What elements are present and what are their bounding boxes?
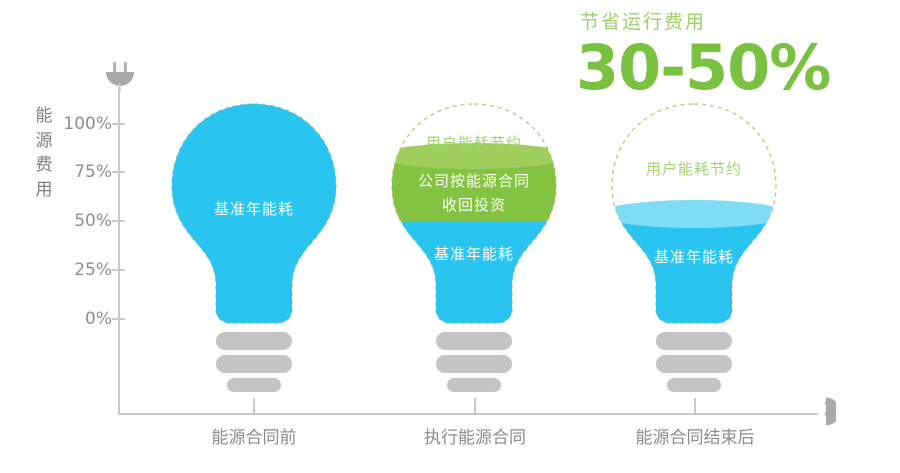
y-axis-line [118,88,120,415]
x-tick-mark-2 [474,398,476,414]
x-axis-line [118,413,818,415]
x-tick-mark-1 [253,398,255,414]
y-axis-title-char-4: 用 [32,178,56,203]
y-tick-mark-100 [112,123,125,125]
plug-icon [104,62,136,92]
y-axis-title-char-2: 源 [32,129,56,154]
bulb-after-contract: 用户能耗节约 基准年能耗 [599,96,789,396]
y-tick-mark-50 [112,220,125,222]
x-axis-label-3: 能源合同结束后 [595,423,795,448]
x-tick-mark-3 [694,398,696,414]
bulb-before-contract: 基准年能耗 [159,96,349,396]
y-tick-label-0: 0% [60,309,112,329]
y-tick-mark-75 [112,171,125,173]
y-tick-label-50: 50% [60,211,112,231]
y-tick-label-100: 100% [60,114,112,134]
y-tick-mark-25 [112,269,125,271]
bulb-during-contract: 用户能耗节约 公司按能源合同 收回投资 基准年能耗 [379,96,569,396]
y-tick-mark-0 [112,318,125,320]
headline-value: 30-50% [576,37,844,99]
y-axis-title-char-1: 能 [32,104,56,129]
y-tick-label-75: 75% [60,162,112,182]
infographic-canvas: 节省运行费用 30-50% 能 源 费 用 100% 75% 50% 25% 0… [0,0,900,473]
y-tick-label-25: 25% [60,260,112,280]
x-axis-label-1: 能源合同前 [154,423,354,448]
y-axis-title: 能 源 费 用 [32,104,56,203]
x-axis-label-2: 执行能源合同 [375,423,575,448]
headline-block: 节省运行费用 30-50% [574,4,844,99]
socket-icon [806,396,836,430]
y-axis-title-char-3: 费 [32,153,56,178]
